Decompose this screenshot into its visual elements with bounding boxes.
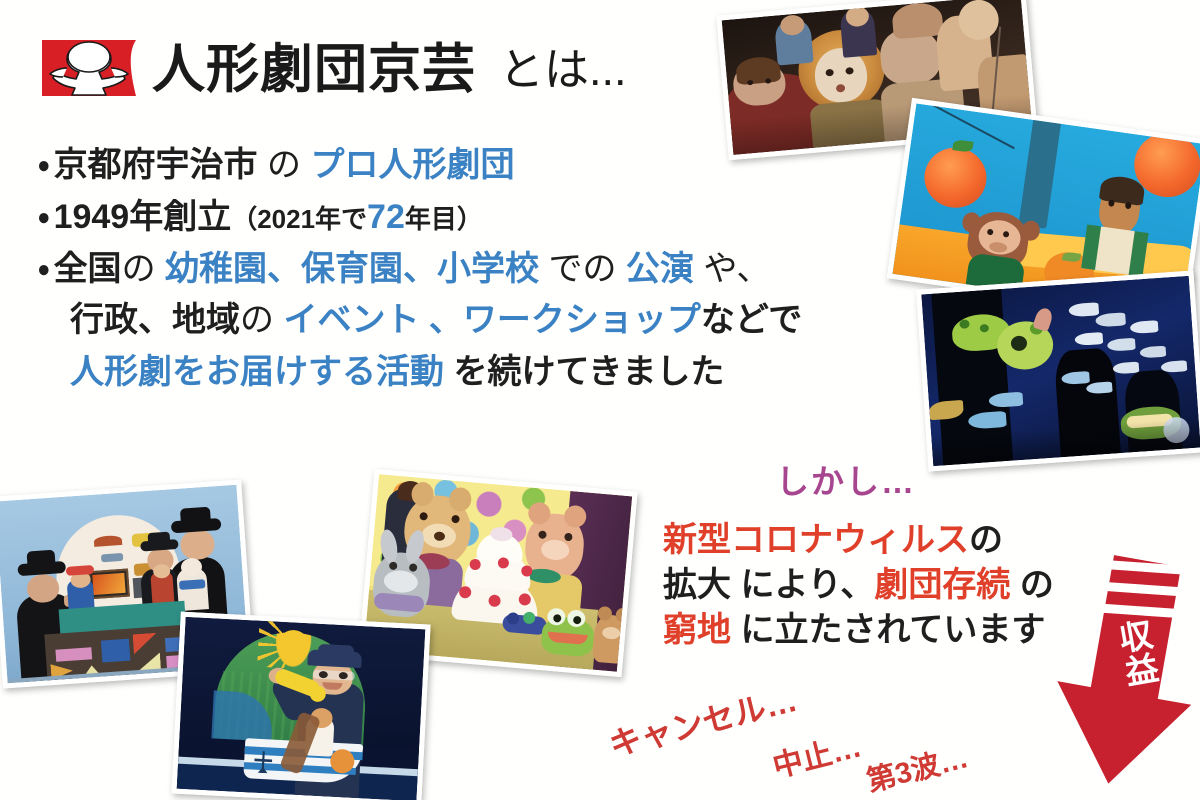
bullet-2-seg-4: 年目） [405, 204, 483, 234]
bullet-4-seg-2: の [240, 301, 283, 339]
corona-line-3-tail: に立たされています [731, 611, 1045, 649]
bullet-3-performance: 公演 [626, 250, 694, 288]
bullet-3-seg-4: での [539, 250, 626, 288]
corona-virus-term: 新型コロナウィルス [663, 521, 969, 559]
bullet-3-seg-1: 全国 [54, 250, 122, 288]
caption-third-wave: 第3波… [862, 734, 972, 800]
bullet-2-seg-2: （2021年で [231, 204, 367, 234]
bullet-marker: ・ [38, 198, 50, 236]
photo-underwater-fish [916, 271, 1200, 472]
bullet-line-4: 行政、地域の イベント 、ワークショップなどで [38, 299, 858, 342]
corona-line-3: 窮地 に立たされています [663, 608, 1054, 653]
bullet-line-1: ・京都府宇治市 の プロ人形劇団 [38, 144, 858, 187]
bullet-4-events: イベント 、ワークショップ [283, 301, 700, 339]
corona-impact-text: 新型コロナウィルスの 拡大 により、劇団存続 の 窮地 に立たされています [663, 518, 1054, 653]
page-header: 人形劇団京芸 とは... [40, 38, 627, 100]
bullet-1-seg-1: 京都府宇治市 [54, 146, 258, 184]
bullet-2-seg-1: 1949年創立 [54, 198, 232, 236]
bullet-5-seg-2: を続けてきました [444, 353, 724, 391]
bullet-3-seg-6: や、 [694, 250, 770, 288]
corona-crisis-term: 窮地 [663, 611, 731, 649]
corona-line-2-head: 拡大 により、 [663, 566, 874, 604]
bullet-4-seg-1: 行政、地域 [70, 301, 240, 339]
revenue-down-arrow-icon: 収 益 [1035, 552, 1200, 800]
poster-canvas: 人形劇団京芸 とは... ・京都府宇治市 の プロ人形劇団 ・1949年創立（2… [0, 0, 1200, 800]
bullet-3-seg-2: の [122, 250, 165, 288]
corona-line-1: 新型コロナウィルスの [663, 518, 1054, 563]
corona-line-2: 拡大 により、劇団存続 の [663, 563, 1054, 608]
bullet-line-3: ・全国の 幼稚園、保育園、小学校 での 公演 や、 [38, 248, 858, 291]
bullet-line-5: 人形劇をお届けする活動 を続けてきました [38, 351, 858, 394]
kyogei-puppet-logo-icon [40, 38, 138, 100]
bullet-2-years: 72 [367, 198, 405, 236]
transition-label: しかし… [776, 455, 916, 503]
corona-survival-term: 劇団存続 [874, 566, 1010, 604]
page-title: 人形劇団京芸 [152, 43, 476, 96]
bullet-1-seg-2: の [258, 146, 311, 184]
bullet-5-activity: 人形劇をお届けする活動 [70, 353, 444, 391]
bullet-marker: ・ [38, 146, 50, 184]
bullet-marker: ・ [38, 250, 50, 288]
bullet-line-2: ・1949年創立（2021年で72年目） [38, 196, 858, 239]
arrow-label-char-2: 益 [1119, 650, 1164, 690]
bullet-1-seg-3: プロ人形劇団 [310, 146, 514, 184]
intro-bullet-list: ・京都府宇治市 の プロ人形劇団 ・1949年創立（2021年で72年目） ・全… [38, 144, 858, 403]
bullet-3-venues: 幼稚園、保育園、小学校 [165, 250, 539, 288]
corona-line-1-tail: の [969, 521, 1003, 559]
bullet-4-seg-4: などで [701, 301, 802, 339]
photo-sailor-boat [171, 612, 430, 800]
caption-suspension: 中止… [767, 722, 865, 786]
page-title-suffix: とは... [499, 47, 627, 92]
